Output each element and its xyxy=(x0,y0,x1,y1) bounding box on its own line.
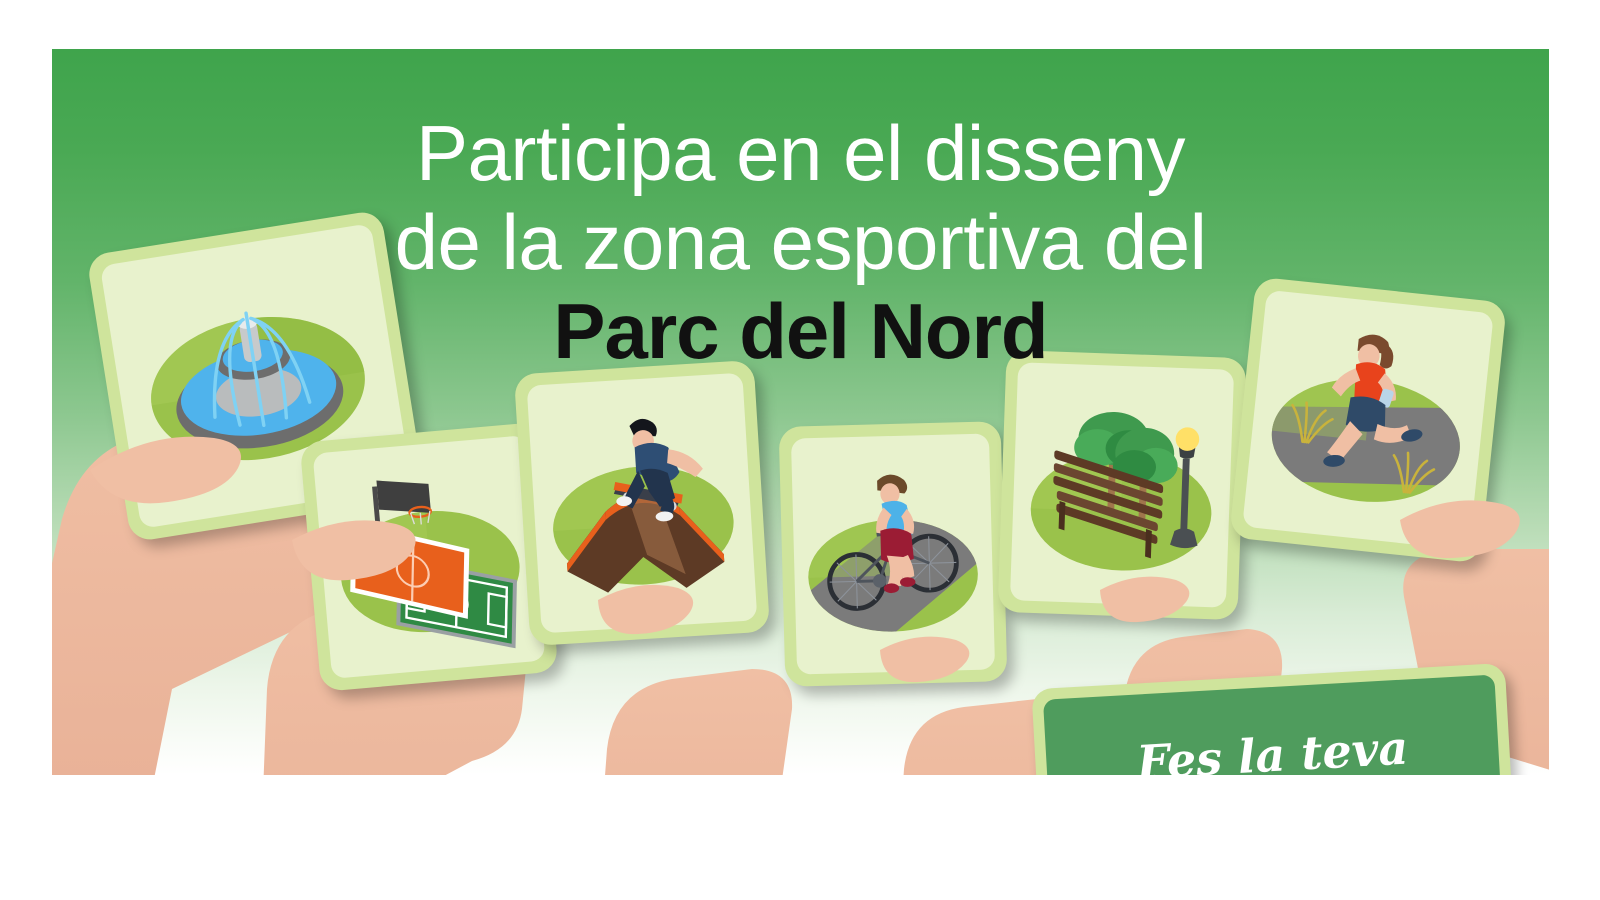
hands-foreground-layer xyxy=(52,49,1549,775)
footer-logos: Ajuntament de Sabadell Hi col·labora: Di… xyxy=(0,775,1600,900)
finger-right-inner xyxy=(1100,577,1189,622)
cta-inner: Fes la teva aportació! xyxy=(1043,675,1505,775)
finger-left-inner xyxy=(292,520,416,580)
banner-panel: Participa en el disseny de la zona espor… xyxy=(52,49,1549,775)
cta-line-1: Fes la teva xyxy=(1135,718,1409,775)
finger-center-right xyxy=(880,637,969,682)
banner-canvas: Participa en el disseny de la zona espor… xyxy=(0,0,1600,900)
finger-center-left xyxy=(598,585,693,634)
finger-right-outer xyxy=(1400,500,1520,558)
finger-left-outer xyxy=(90,437,241,504)
